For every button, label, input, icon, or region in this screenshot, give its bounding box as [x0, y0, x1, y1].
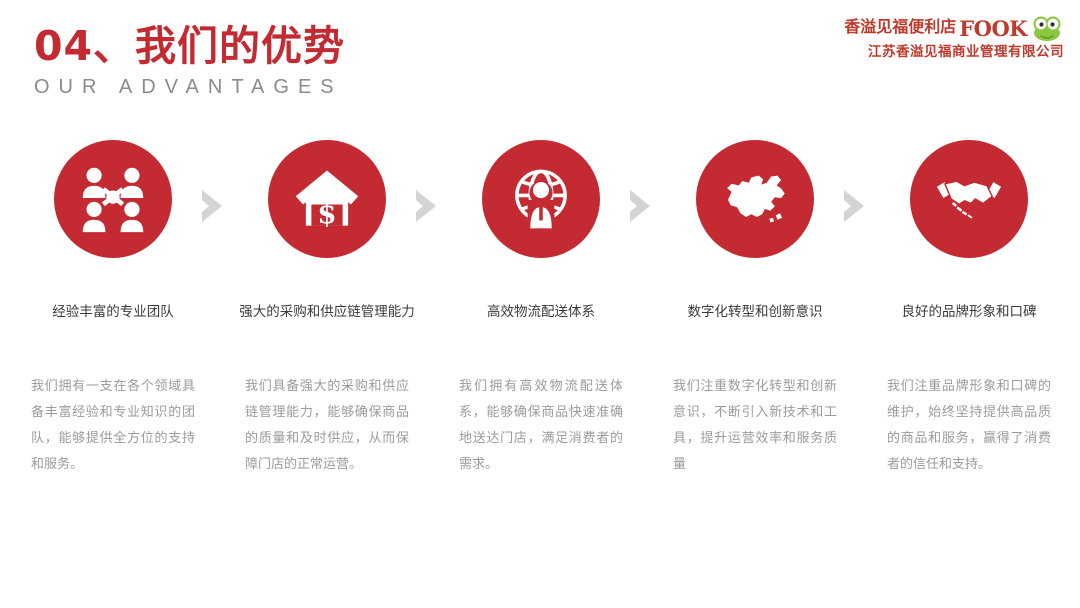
- logo-brand-en: FOOK: [959, 18, 1027, 39]
- advantage-column-4: 数字化转型和创新意识 我们注重数字化转型和创新意识，不断引入新技术和工具，提升运…: [660, 134, 850, 258]
- advantage-body-2: 我们具备强大的采购和供应链管理能力，能够确保商品的质量和及时供应，从而保障门店的…: [245, 374, 409, 478]
- advantage-body-4: 我们注重数字化转型和创新意识，不断引入新技术和工具，提升运营效率和服务质量: [673, 374, 837, 478]
- page-title: 04、我们的优势: [34, 26, 345, 67]
- advantage-column-1: 经验丰富的专业团队 我们拥有一支在各个领域具备丰富经验和专业知识的团队，能够提供…: [18, 134, 208, 258]
- advantage-icon-circle-5: [910, 140, 1028, 258]
- page-subtitle: OUR ADVANTAGES: [34, 76, 345, 99]
- advantage-heading-4: 数字化转型和创新意识: [660, 302, 850, 322]
- slide-header: 04、我们的优势 OUR ADVANTAGES 香溢见福便利店 FOOK 江苏香…: [0, 0, 1080, 120]
- svg-text:$: $: [317, 198, 336, 230]
- house-dollar-icon: $: [293, 165, 361, 233]
- company-logo: 香溢见福便利店 FOOK 江苏香溢见福商业管理有限公司: [844, 14, 1064, 60]
- advantage-body-5: 我们注重品牌形象和口碑的维护，始终坚持提供高品质的商品和服务，赢得了消费者的信任…: [887, 374, 1051, 478]
- logo-brand-cn: 香溢见福便利店: [844, 19, 956, 35]
- advantage-column-5: 良好的品牌形象和口碑 我们注重品牌形象和口碑的维护，始终坚持提供高品质的商品和服…: [874, 134, 1064, 258]
- logo-top-row: 香溢见福便利店 FOOK: [844, 14, 1064, 40]
- advantage-heading-2: 强大的采购和供应链管理能力: [232, 302, 422, 322]
- chevron-right-icon: [838, 187, 872, 225]
- title-block: 04、我们的优势 OUR ADVANTAGES: [34, 26, 345, 99]
- chevron-right-icon: [196, 187, 230, 225]
- advantage-heading-1: 经验丰富的专业团队: [18, 302, 208, 322]
- advantage-heading-5: 良好的品牌形象和口碑: [874, 302, 1064, 322]
- advantage-icon-circle-4: [696, 140, 814, 258]
- china-map-icon: [719, 170, 791, 228]
- logo-company-name: 江苏香溢见福商业管理有限公司: [844, 46, 1064, 60]
- advantage-heading-3: 高效物流配送体系: [446, 302, 636, 322]
- handshake-icon: [933, 174, 1005, 224]
- advantage-column-2: $ 强大的采购和供应链管理能力 我们具备强大的采购和供应链管理能力，能够确保商品…: [232, 134, 422, 258]
- globe-person-icon: [508, 166, 574, 232]
- frog-mascot-icon: [1030, 15, 1064, 41]
- advantage-icon-circle-2: $: [268, 140, 386, 258]
- advantage-column-3: 高效物流配送体系 我们拥有高效物流配送体系，能够确保商品快速准确地送达门店，满足…: [446, 134, 636, 258]
- advantage-icon-circle-1: [54, 140, 172, 258]
- advantage-body-1: 我们拥有一支在各个领域具备丰富经验和专业知识的团队，能够提供全方位的支持和服务。: [31, 374, 195, 478]
- chevron-right-icon: [624, 187, 658, 225]
- advantage-icon-circle-3: [482, 140, 600, 258]
- team-network-icon: [78, 164, 148, 234]
- chevron-right-icon: [410, 187, 444, 225]
- advantage-body-3: 我们拥有高效物流配送体系，能够确保商品快速准确地送达门店，满足消费者的需求。: [459, 374, 623, 478]
